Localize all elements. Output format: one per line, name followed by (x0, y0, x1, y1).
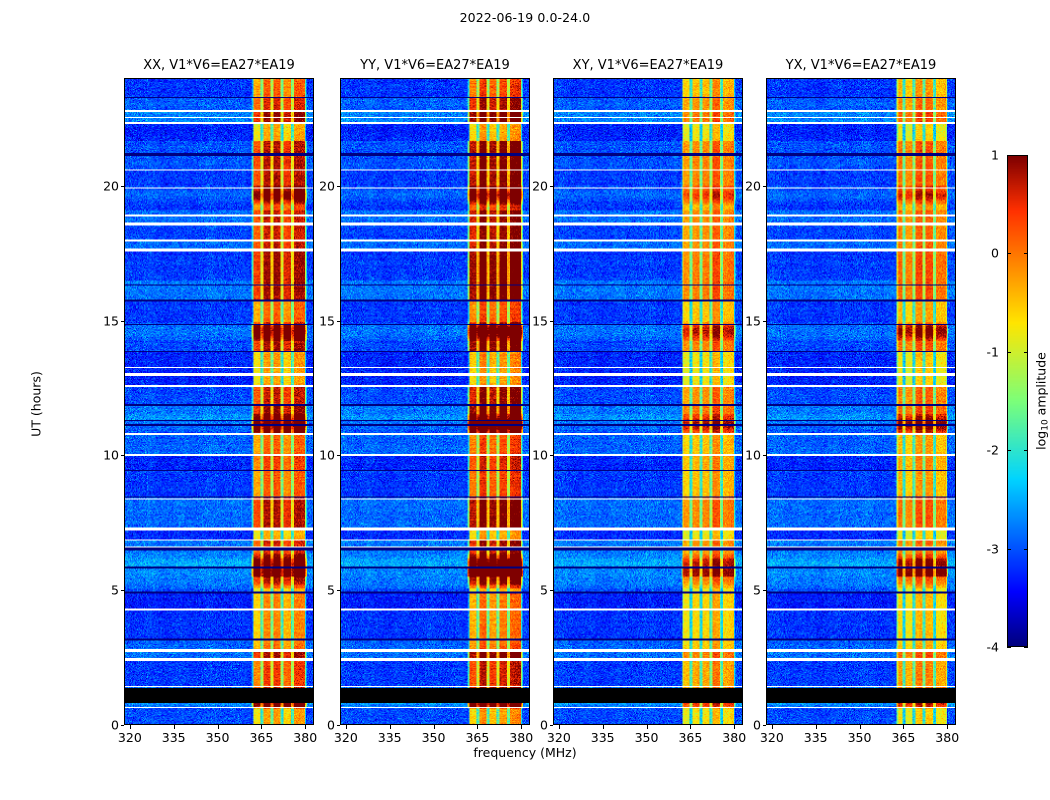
colorbar-tick-mark (1007, 647, 1011, 648)
colorbar-tick-mark (1007, 155, 1011, 156)
colorbar-tick-label: 1 (991, 148, 999, 163)
x-tick-label: 320 (760, 730, 784, 745)
y-tick-mark (121, 455, 125, 456)
x-tick-mark (477, 725, 478, 729)
x-axis-label: frequency (MHz) (0, 745, 1050, 760)
y-tick-mark (121, 590, 125, 591)
x-tick-mark (947, 725, 948, 729)
colorbar-tick-mark (1024, 450, 1028, 451)
y-tick-label: 15 (745, 313, 761, 328)
y-tick-mark (550, 725, 554, 726)
colorbar-label: log10 amplitude (1034, 352, 1049, 450)
x-tick-mark (261, 725, 262, 729)
y-tick-label: 10 (745, 448, 761, 463)
x-tick-label: 350 (422, 730, 446, 745)
waterfall-panel-yx[interactable]: YX, V1*V6=EA27*EA19320335350365380051015… (766, 78, 956, 725)
y-tick-label: 15 (532, 313, 548, 328)
y-tick-label: 15 (319, 313, 335, 328)
x-tick-mark (903, 725, 904, 729)
y-tick-label: 0 (540, 718, 548, 733)
panel-axes-xx (124, 78, 314, 725)
colorbar-tick-label: -4 (987, 640, 999, 655)
y-tick-label: 0 (753, 718, 761, 733)
colorbar-tick-mark (1024, 253, 1028, 254)
x-tick-label: 365 (249, 730, 273, 745)
colorbar-tick-label: -1 (987, 344, 999, 359)
x-tick-mark (434, 725, 435, 729)
x-tick-mark (174, 725, 175, 729)
figure-canvas: 2022-06-19 0.0-24.0 XX, V1*V6=EA27*EA193… (0, 0, 1050, 800)
y-tick-label: 10 (103, 448, 119, 463)
x-tick-mark (734, 725, 735, 729)
x-tick-label: 350 (635, 730, 659, 745)
x-tick-label: 380 (509, 730, 533, 745)
colorbar-tick-mark (1024, 647, 1028, 648)
y-tick-mark (337, 725, 341, 726)
waterfall-panel-yy[interactable]: YY, V1*V6=EA27*EA19320335350365380051015… (340, 78, 530, 725)
x-tick-label: 365 (678, 730, 702, 745)
x-tick-mark (860, 725, 861, 729)
y-tick-mark (550, 455, 554, 456)
y-tick-label: 10 (532, 448, 548, 463)
colorbar-tick-mark (1007, 253, 1011, 254)
waterfall-image-xx (125, 79, 313, 724)
y-tick-label: 5 (753, 583, 761, 598)
x-tick-mark (346, 725, 347, 729)
waterfall-panel-xy[interactable]: XY, V1*V6=EA27*EA19320335350365380051015… (553, 78, 743, 725)
colorbar-gradient (1008, 156, 1027, 646)
colorbar-tick-mark (1007, 549, 1011, 550)
figure-suptitle: 2022-06-19 0.0-24.0 (0, 10, 1050, 25)
y-tick-label: 20 (745, 178, 761, 193)
y-tick-label: 0 (111, 718, 119, 733)
y-axis-label: UT (hours) (29, 371, 44, 437)
colorbar-label-subscript: 10 (1041, 419, 1050, 430)
x-tick-mark (603, 725, 604, 729)
waterfall-panel-xx[interactable]: XX, V1*V6=EA27*EA19320335350365380051015… (124, 78, 314, 725)
x-tick-mark (218, 725, 219, 729)
colorbar-tick-label: 0 (991, 246, 999, 261)
x-tick-mark (130, 725, 131, 729)
y-tick-mark (337, 455, 341, 456)
y-tick-label: 0 (327, 718, 335, 733)
y-tick-mark (550, 321, 554, 322)
y-tick-mark (763, 725, 767, 726)
panel-title-xy: XY, V1*V6=EA27*EA19 (573, 58, 724, 73)
y-tick-mark (550, 590, 554, 591)
y-tick-mark (121, 321, 125, 322)
x-tick-mark (816, 725, 817, 729)
y-tick-mark (763, 186, 767, 187)
y-tick-mark (337, 590, 341, 591)
x-tick-label: 350 (206, 730, 230, 745)
colorbar-tick-mark (1024, 549, 1028, 550)
colorbar-label-base: log (1034, 431, 1049, 450)
x-tick-mark (559, 725, 560, 729)
x-tick-mark (390, 725, 391, 729)
colorbar-label-tail: amplitude (1034, 352, 1049, 419)
x-tick-label: 320 (547, 730, 571, 745)
x-tick-label: 335 (378, 730, 402, 745)
colorbar[interactable] (1007, 155, 1028, 647)
panel-title-yy: YY, V1*V6=EA27*EA19 (360, 58, 510, 73)
waterfall-image-xy (554, 79, 742, 724)
colorbar-tick-mark (1007, 450, 1011, 451)
waterfall-image-yx (767, 79, 955, 724)
y-tick-mark (337, 186, 341, 187)
y-tick-mark (763, 455, 767, 456)
panel-title-yx: YX, V1*V6=EA27*EA19 (786, 58, 937, 73)
y-tick-label: 5 (540, 583, 548, 598)
y-tick-mark (121, 725, 125, 726)
y-tick-label: 15 (103, 313, 119, 328)
panel-axes-yy (340, 78, 530, 725)
panel-title-xx: XX, V1*V6=EA27*EA19 (143, 58, 295, 73)
y-tick-mark (550, 186, 554, 187)
y-tick-label: 5 (327, 583, 335, 598)
y-tick-mark (763, 321, 767, 322)
y-tick-label: 10 (319, 448, 335, 463)
x-tick-label: 335 (162, 730, 186, 745)
y-tick-label: 20 (319, 178, 335, 193)
colorbar-tick-label: -2 (987, 443, 999, 458)
x-tick-label: 320 (118, 730, 142, 745)
x-tick-label: 320 (334, 730, 358, 745)
x-tick-label: 380 (935, 730, 959, 745)
panel-axes-yx (766, 78, 956, 725)
y-tick-mark (121, 186, 125, 187)
y-tick-label: 20 (103, 178, 119, 193)
colorbar-tick-label: -3 (987, 541, 999, 556)
x-tick-label: 365 (891, 730, 915, 745)
x-tick-label: 380 (293, 730, 317, 745)
x-tick-mark (521, 725, 522, 729)
y-tick-mark (763, 590, 767, 591)
colorbar-tick-mark (1024, 352, 1028, 353)
x-tick-label: 335 (804, 730, 828, 745)
y-tick-label: 20 (532, 178, 548, 193)
x-tick-label: 335 (591, 730, 615, 745)
panel-axes-xy (553, 78, 743, 725)
x-tick-label: 350 (848, 730, 872, 745)
x-tick-mark (690, 725, 691, 729)
x-tick-label: 365 (465, 730, 489, 745)
y-tick-mark (337, 321, 341, 322)
x-tick-label: 380 (722, 730, 746, 745)
x-tick-mark (772, 725, 773, 729)
waterfall-image-yy (341, 79, 529, 724)
y-tick-label: 5 (111, 583, 119, 598)
colorbar-tick-mark (1024, 155, 1028, 156)
colorbar-tick-mark (1007, 352, 1011, 353)
x-tick-mark (305, 725, 306, 729)
x-tick-mark (647, 725, 648, 729)
